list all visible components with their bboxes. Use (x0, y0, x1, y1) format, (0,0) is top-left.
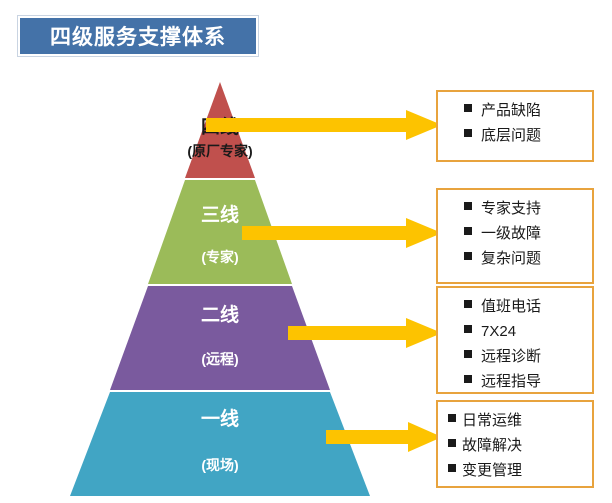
list-item: 一级故障 (464, 221, 584, 246)
pyramid-tier-4-shape (185, 82, 255, 178)
diagram-title-text: 四级服务支撑体系 (50, 21, 226, 51)
square-bullet-icon (464, 325, 472, 333)
list-item: 变更管理 (448, 458, 584, 483)
list-item: 底层问题 (464, 123, 584, 148)
list-item: 远程诊断 (464, 344, 584, 369)
square-bullet-icon (464, 300, 472, 308)
square-bullet-icon (464, 129, 472, 137)
callout-item-text: 故障解决 (462, 433, 522, 458)
callout-item-text: 远程指导 (481, 369, 541, 394)
square-bullet-icon (464, 104, 472, 112)
callout-item-text: 变更管理 (462, 458, 522, 483)
list-item: 复杂问题 (464, 246, 584, 271)
callout-item-text: 专家支持 (481, 196, 541, 221)
list-item: 7X24 (464, 319, 584, 344)
callout-item-text: 产品缺陷 (481, 98, 541, 123)
pyramid-tier-2-shape (110, 286, 330, 390)
callout-tier-2: 值班电话 7X24 远程诊断 远程指导 (436, 286, 594, 394)
callout-tier-2-list: 值班电话 7X24 远程诊断 远程指导 (464, 294, 584, 394)
square-bullet-icon (464, 350, 472, 358)
callout-item-text: 远程诊断 (481, 344, 541, 369)
square-bullet-icon (464, 227, 472, 235)
list-item: 产品缺陷 (464, 98, 584, 123)
callout-item-text: 日常运维 (462, 408, 522, 433)
pyramid-tier-3-shape (148, 180, 292, 284)
square-bullet-icon (464, 375, 472, 383)
callout-item-text: 复杂问题 (481, 246, 541, 271)
callout-tier-3: 专家支持 一级故障 复杂问题 (436, 188, 594, 284)
square-bullet-icon (448, 464, 456, 472)
list-item: 值班电话 (464, 294, 584, 319)
list-item: 专家支持 (464, 196, 584, 221)
diagram-title: 四级服务支撑体系 (18, 16, 258, 56)
callout-tier-1-list: 日常运维 故障解决 变更管理 (448, 408, 584, 483)
callout-item-text: 值班电话 (481, 294, 541, 319)
callout-item-text: 一级故障 (481, 221, 541, 246)
list-item: 日常运维 (448, 408, 584, 433)
square-bullet-icon (448, 414, 456, 422)
list-item: 远程指导 (464, 369, 584, 394)
pyramid-chart: 四线 (原厂专家) 三线 (专家) 二线 (远程) 一线 (现场) (40, 78, 400, 503)
callout-item-text: 底层问题 (481, 123, 541, 148)
square-bullet-icon (448, 439, 456, 447)
list-item: 故障解决 (448, 433, 584, 458)
callout-tier-4: 产品缺陷 底层问题 (436, 90, 594, 162)
diagram-canvas: 四级服务支撑体系 四线 (原厂专家) 三线 (专家) 二线 (远程) 一线 (0, 0, 612, 500)
callout-tier-3-list: 专家支持 一级故障 复杂问题 (464, 196, 584, 271)
pyramid-tier-1-shape (70, 392, 370, 496)
callout-tier-1: 日常运维 故障解决 变更管理 (436, 400, 594, 488)
callout-item-text: 7X24 (481, 319, 516, 344)
square-bullet-icon (464, 252, 472, 260)
pyramid-svg (40, 78, 400, 498)
square-bullet-icon (464, 202, 472, 210)
callout-tier-4-list: 产品缺陷 底层问题 (464, 98, 584, 148)
